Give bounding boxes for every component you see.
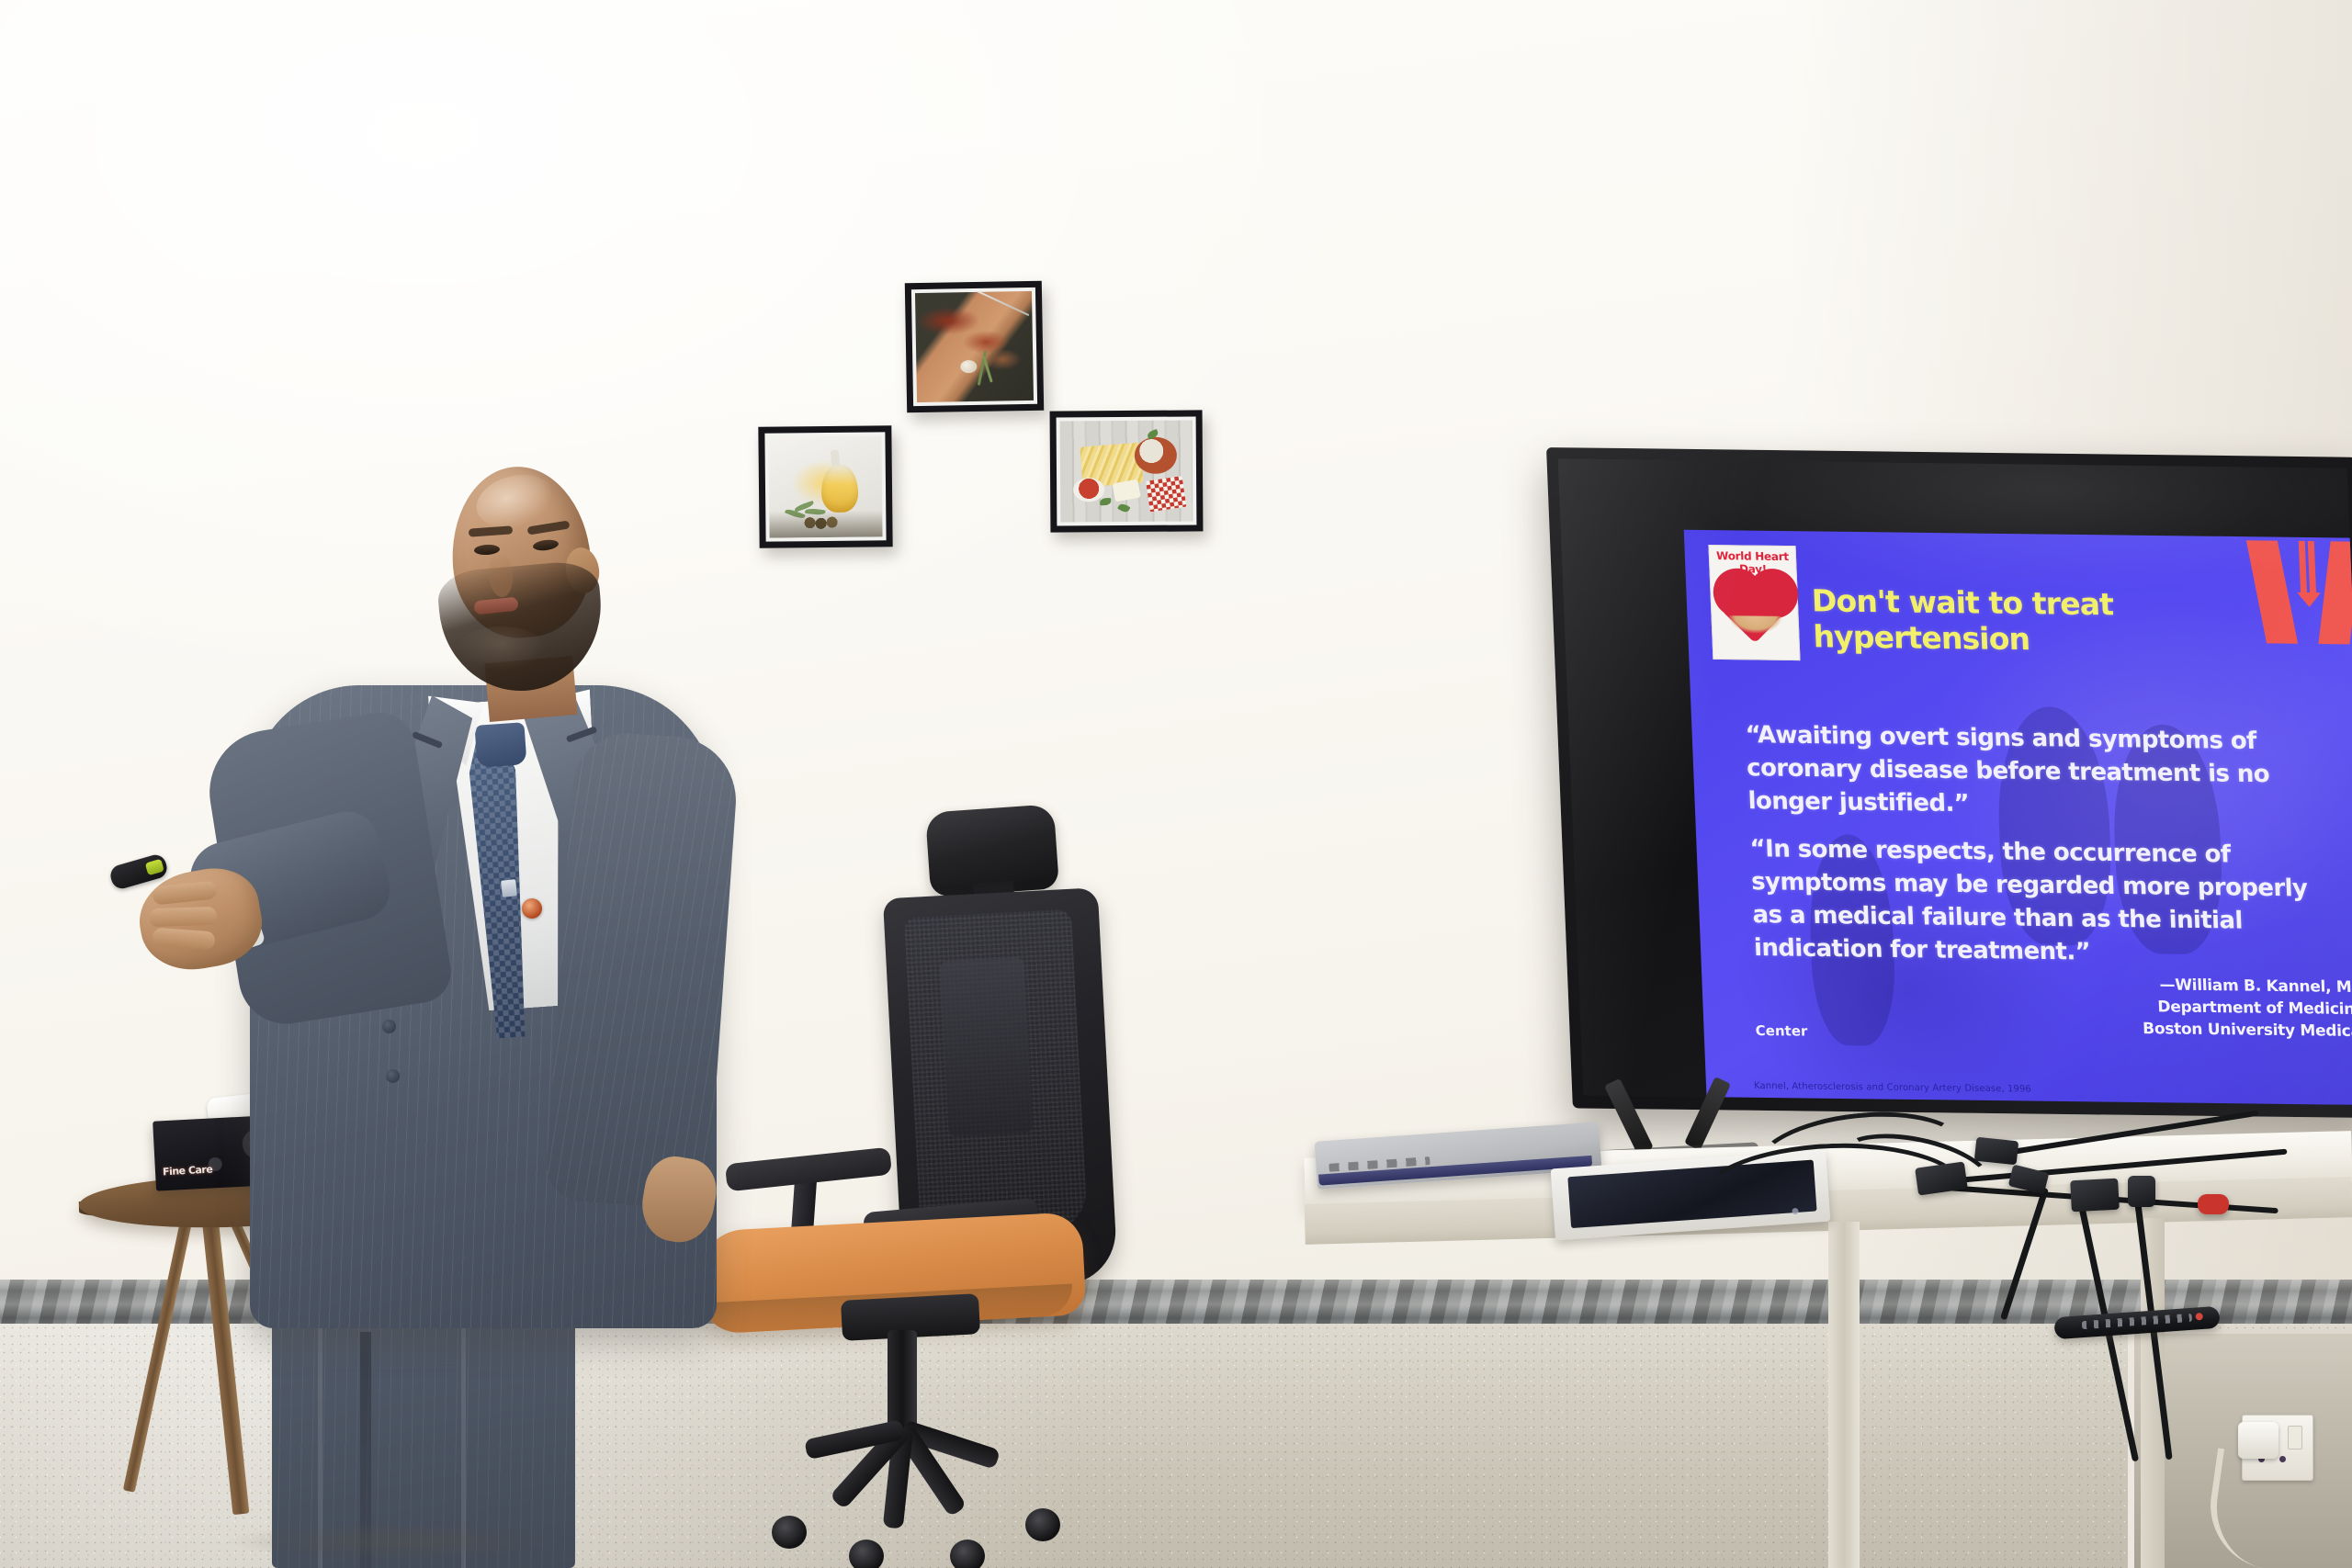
desk-leg [1828,1222,1860,1568]
checked-cloth [1146,476,1187,512]
presenter[interactable] [165,459,827,1568]
basil-leaf [1100,499,1111,506]
lapel-pin [522,898,542,919]
chair-castor [1025,1508,1060,1541]
presenter-floor-shadow [230,1523,560,1560]
herb-sprig [982,355,993,383]
necktie-knot [474,722,526,768]
beard-highlight [458,626,546,671]
slide-quote-1: “Awaiting overt signs and symptoms of co… [1745,719,2319,825]
garlic-bulb [961,360,978,373]
basil-leaf [1117,502,1130,514]
socket-switch[interactable] [2288,1426,2302,1450]
knife-detail [971,291,1029,316]
attribution-institution: Boston University Medical [1979,1016,2352,1043]
sleeve-pinstripe-texture [544,729,740,1210]
cheese-wedge [1112,479,1140,502]
picture-mat [911,288,1037,406]
power-adapter [2070,1179,2120,1213]
framed-photo-charcuterie [905,281,1044,413]
breast-pocket-card [501,879,517,897]
pan [1134,436,1176,473]
picture-mat [1057,416,1197,525]
cupped-hands-icon [1721,615,1791,655]
room-scene: World Heart Day! Don't wait to treat hyp… [0,0,2352,1568]
presenter-right-arm [544,729,740,1210]
slide-quote-2: “In some respects, the occurrence of sym… [1749,833,2325,972]
power-adapter [1974,1137,2018,1166]
chair-lumbar-support [940,957,1034,1136]
presentation-slide: World Heart Day! Don't wait to treat hyp… [1684,530,2352,1105]
remote-buttons[interactable] [2082,1314,2192,1329]
chair-castor [950,1540,985,1568]
slide-title: Don't wait to treat hypertension [1811,582,2311,660]
red-connector [2198,1194,2229,1214]
presentation-television[interactable]: World Heart Day! Don't wait to treat hyp… [1546,447,2352,1118]
power-adapter [2128,1176,2155,1207]
slide-citation: Kannel, Atherosclerosis and Coronary Art… [1754,1081,2031,1095]
jacket-button [386,1069,400,1083]
slide-attribution: —William B. Kannel, MD Department of Med… [1977,972,2352,1043]
chair-castor [849,1540,884,1568]
charcuterie-artwork [915,291,1034,402]
tv-screen[interactable]: World Heart Day! Don't wait to treat hyp… [1557,458,2352,1105]
pasta-artwork [1060,420,1193,522]
logo-inner-stroke [2308,541,2316,598]
clicker-green-accent [145,859,164,875]
attribution-institution-wrap: Center [1755,1022,1807,1040]
tomato-bowl [1073,478,1104,502]
framed-photo-pasta [1050,410,1204,532]
jacket-button [382,1020,396,1033]
hand-finger [149,907,218,928]
logo-right-stroke [2318,541,2352,644]
remote-power-button[interactable] [2195,1313,2203,1321]
world-heart-day-logo: World Heart Day! [1708,545,1800,660]
